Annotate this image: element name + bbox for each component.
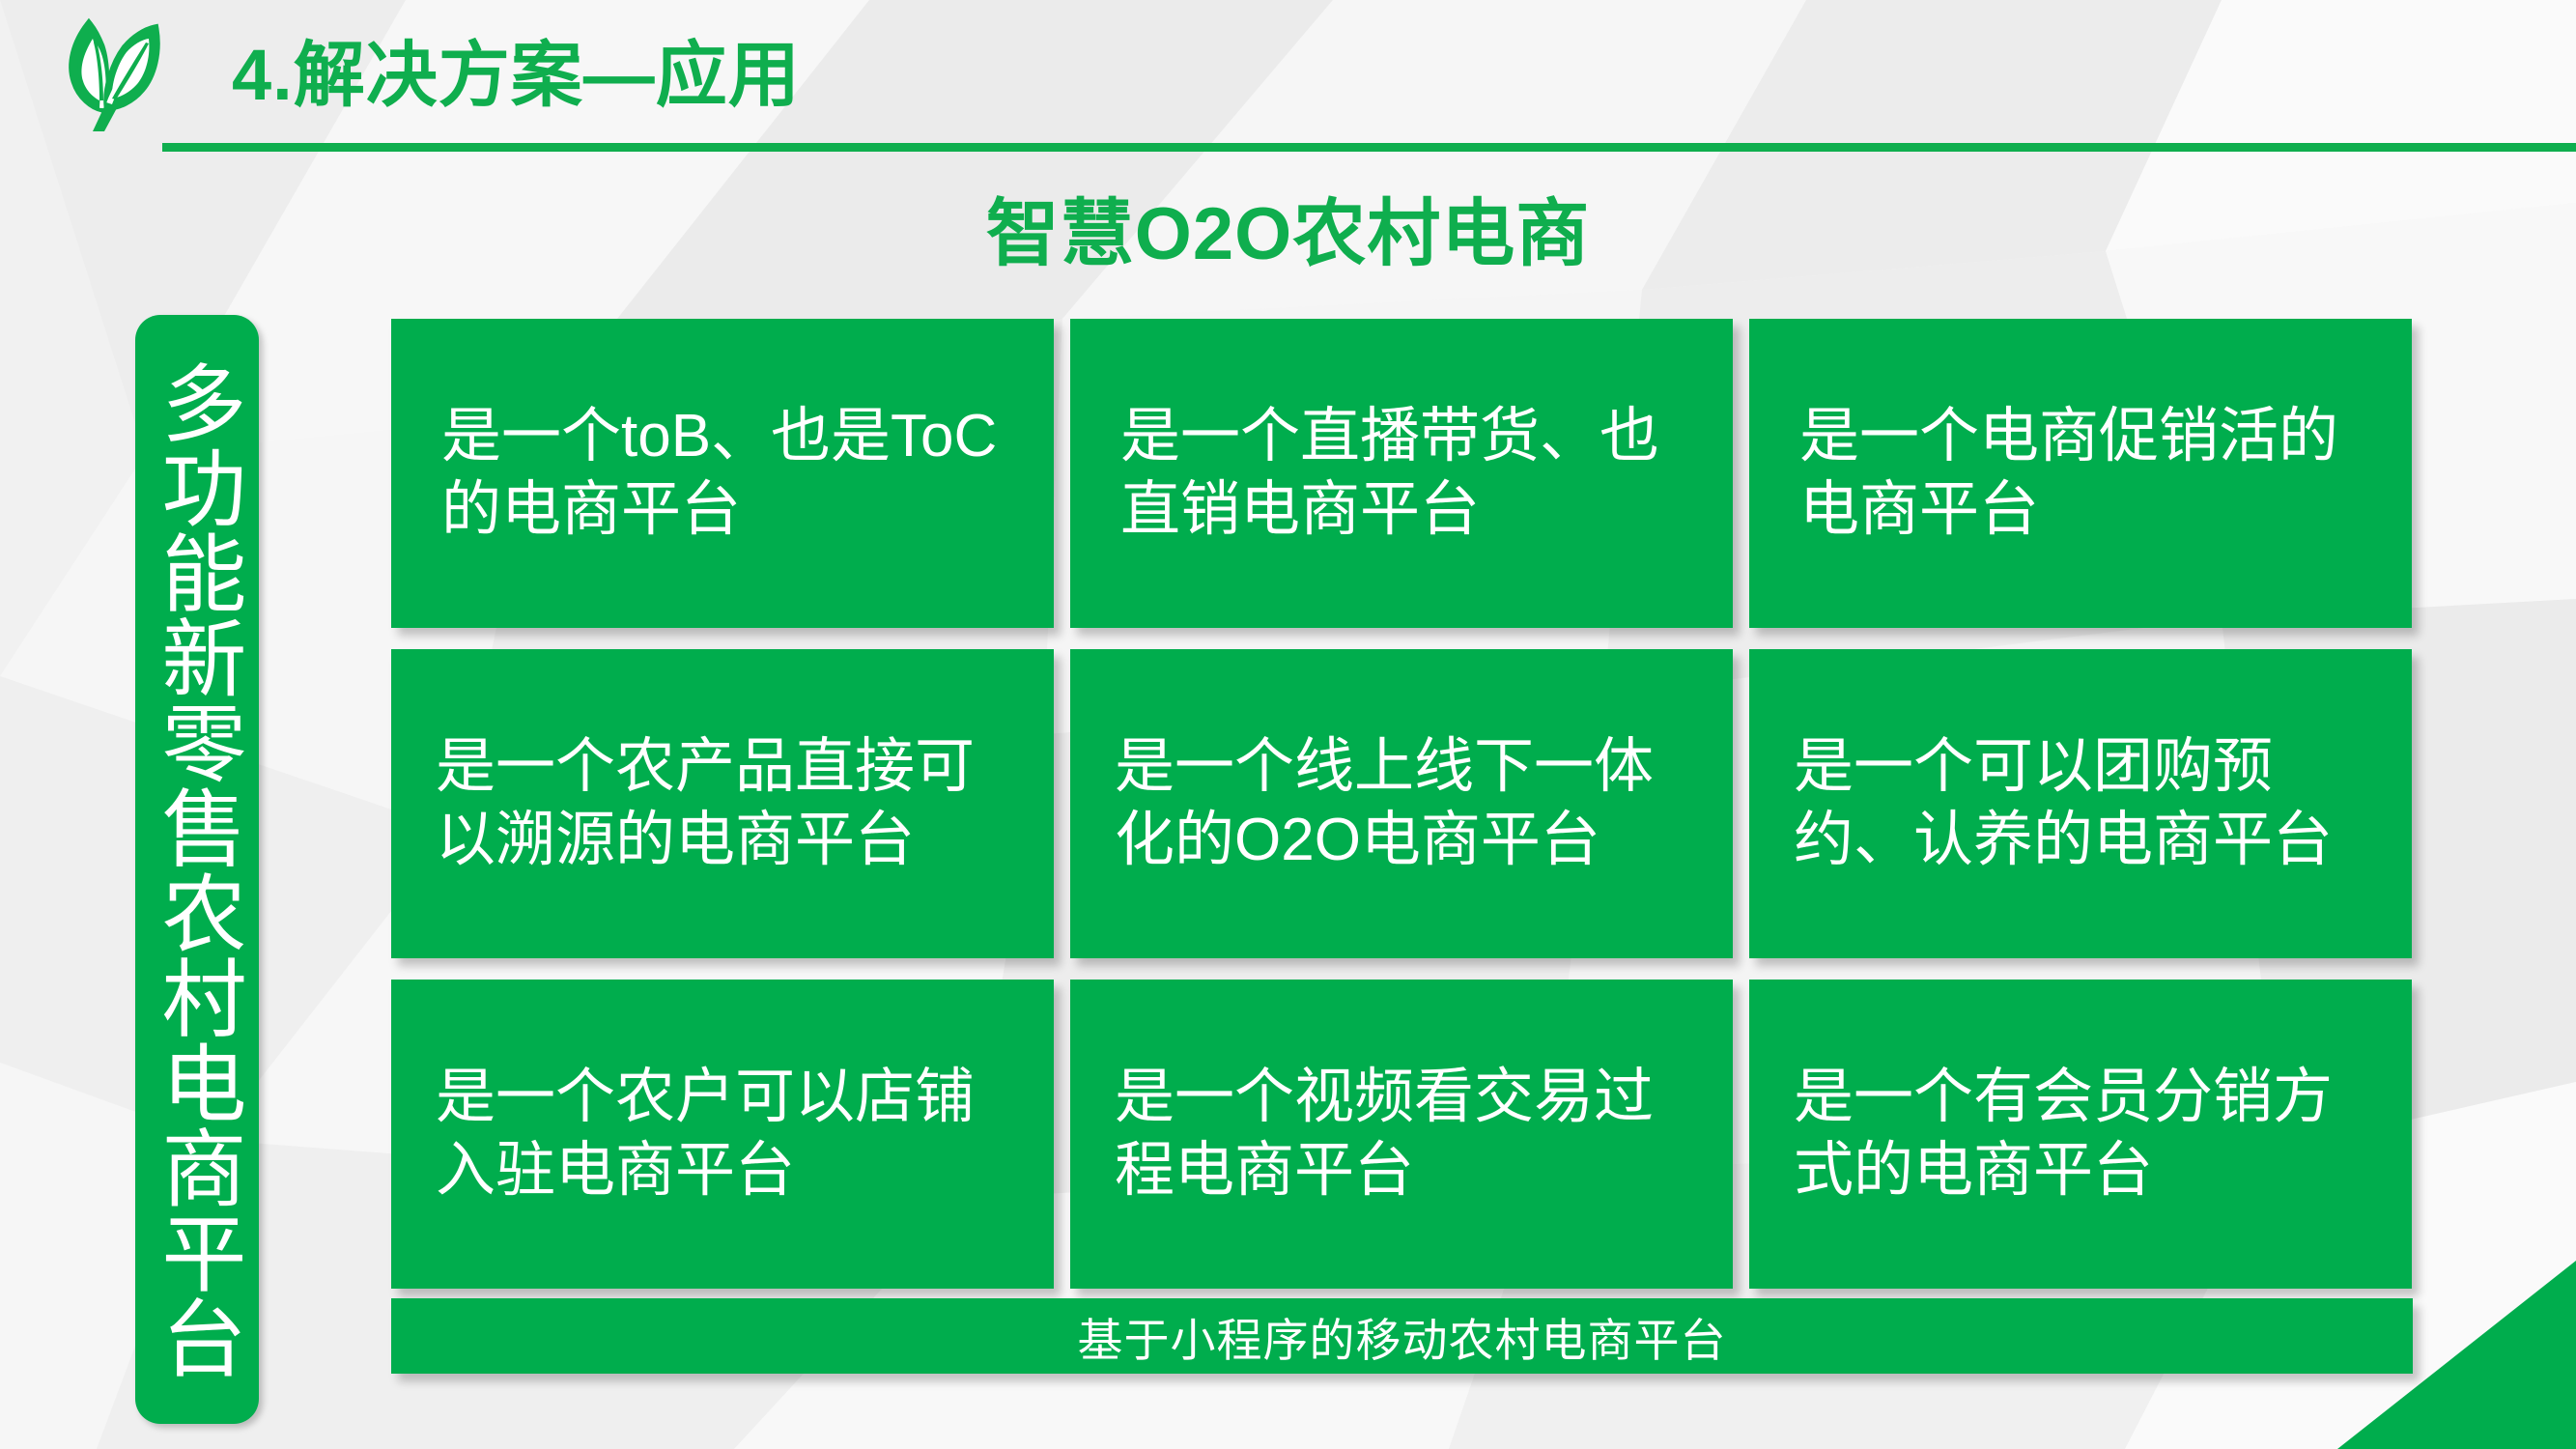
feature-card-text: 是一个农产品直接可以溯源的电商平台 — [436, 730, 1011, 876]
feature-card[interactable]: 是一个有会员分销方式的电商平台 — [1749, 980, 2412, 1289]
feature-card-text: 是一个有会员分销方式的电商平台 — [1794, 1061, 2369, 1207]
bottom-summary-text: 基于小程序的移动农村电商平台 — [1078, 1303, 1727, 1370]
feature-card-text: 是一个电商促销活的电商平台 — [1794, 400, 2369, 546]
slide-header: 4.解决方案—应用 — [0, 0, 2576, 155]
feature-card-text: 是一个可以团购预约、认养的电商平台 — [1794, 730, 2369, 876]
feature-card-text: 是一个视频看交易过程电商平台 — [1115, 1061, 1690, 1207]
leaf-icon — [46, 14, 160, 131]
feature-card[interactable]: 是一个线上线下一体化的O2O电商平台 — [1070, 649, 1733, 958]
feature-card-text: 是一个直播带货、也直销电商平台 — [1115, 400, 1690, 546]
header-divider — [162, 143, 2576, 152]
vertical-panel-label: 多功能新零售农村电商平台 — [135, 315, 259, 1424]
slide-canvas: 4.解决方案—应用 智慧O2O农村电商 多功能新零售农村电商平台 是一个toB、… — [0, 0, 2576, 1449]
feature-card[interactable]: 是一个农户可以店铺入驻电商平台 — [391, 980, 1054, 1289]
bottom-summary-bar[interactable]: 基于小程序的移动农村电商平台 — [391, 1298, 2413, 1374]
feature-card-text: 是一个农户可以店铺入驻电商平台 — [436, 1061, 1011, 1207]
vertical-category-panel: 多功能新零售农村电商平台 — [135, 315, 259, 1424]
feature-card-grid: 是一个toB、也是ToC的电商平台 是一个直播带货、也直销电商平台 是一个电商促… — [391, 319, 2413, 1289]
feature-card[interactable]: 是一个农产品直接可以溯源的电商平台 — [391, 649, 1054, 958]
main-title: 智慧O2O农村电商 — [0, 174, 2576, 280]
page-title: 4.解决方案—应用 — [232, 17, 801, 121]
feature-card[interactable]: 是一个直播带货、也直销电商平台 — [1070, 319, 1733, 628]
feature-card[interactable]: 是一个可以团购预约、认养的电商平台 — [1749, 649, 2412, 958]
feature-card-text: 是一个toB、也是ToC的电商平台 — [436, 400, 1011, 546]
feature-card[interactable]: 是一个视频看交易过程电商平台 — [1070, 980, 1733, 1289]
feature-card-text: 是一个线上线下一体化的O2O电商平台 — [1115, 730, 1690, 876]
feature-card[interactable]: 是一个电商促销活的电商平台 — [1749, 319, 2412, 628]
feature-card[interactable]: 是一个toB、也是ToC的电商平台 — [391, 319, 1054, 628]
